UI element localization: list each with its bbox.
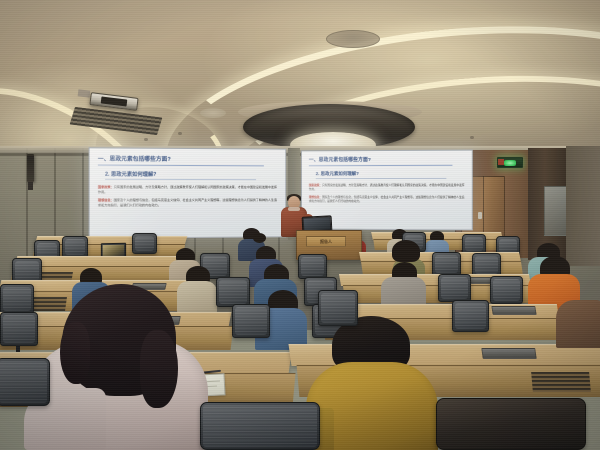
ceiling-vent-icon: [326, 30, 380, 48]
sprinkler-icon: [178, 132, 182, 135]
slide-paragraph-text: 只有国家的发展战略、方针及策略方针、通过政策教育使人们理解和认同国家的政策决策，…: [309, 184, 465, 191]
ceiling: [0, 0, 600, 165]
slide-paragraph-text: 国家及个人的理想与信念，包括马克思主义信仰、社会主义共同产主义理想等，这些理想信…: [98, 198, 277, 207]
projector-mount: [78, 89, 91, 97]
slide-paragraph-label: 理想信念：: [309, 196, 322, 199]
podium-monitor-screen: [304, 217, 331, 230]
sprinkler-icon: [470, 136, 474, 139]
desk-vent: [531, 372, 591, 392]
slide-paragraph: 理想信念：国家及个人的理想与信念，包括马克思主义信仰、社会主义共同产主义理想等，…: [98, 198, 278, 208]
slide-paragraph-label: 理想信念：: [98, 198, 114, 202]
laptop-screen: [103, 245, 124, 256]
slide-heading-rule: [98, 164, 264, 166]
slide-heading-rule: [309, 164, 452, 165]
slide-subheading: 2. 思政元素如何理解?: [105, 170, 277, 178]
slide-paragraph: 国家政策：只有国家的发展战略、方针及策略方针、通过政策教育使人们理解和认同国家的…: [98, 185, 278, 195]
slide-paragraph-text: 只有国家的发展战略、方针及策略方针、通过政策教育使人们理解和认同国家的政策决策，…: [98, 185, 277, 194]
door-handle[interactable]: [478, 212, 482, 219]
desk-monitor-inset: [481, 348, 537, 359]
podium-name-plate: 报告人: [306, 236, 346, 247]
exit-sign-indicator: [498, 159, 504, 165]
presenter-collar: [288, 207, 300, 211]
slide-paragraph: 理想信念：国家及个人的理想与信念，包括马克思主义信仰、社会主义共同产主义理想等，…: [309, 196, 465, 205]
sprinkler-icon: [144, 138, 148, 141]
slide-paragraph: 国家政策：只有国家的发展战略、方针及策略方针、通过政策教育使人们理解和认同国家的…: [309, 184, 465, 192]
podium-plate-text: 报告人: [320, 239, 332, 245]
slide-heading: 一、思政元素包括哪些方面?: [98, 154, 278, 163]
left-projection-screen: 一、思政元素包括哪些方面? 2. 思政元素如何理解? 国家政策：只有国家的发展战…: [89, 147, 287, 239]
slide-subheading: 2. 思政元素如何理解?: [316, 170, 465, 176]
slide-subheading-rule: [316, 178, 447, 179]
slide-paragraph-label: 国家政策：: [309, 184, 322, 187]
far-right-wall: [566, 146, 600, 266]
slide-subheading-rule: [105, 179, 256, 180]
running-man-icon: [504, 160, 516, 166]
wall-speaker-icon: [27, 154, 34, 182]
slide-content-left: 一、思政元素包括哪些方面? 2. 思政元素如何理解? 国家政策：只有国家的发展战…: [90, 148, 286, 237]
lecture-hall-photo: 一、思政元素包括哪些方面? 2. 思政元素如何理解? 国家政策：只有国家的发展战…: [0, 0, 600, 450]
wall-speaker-bracket: [28, 182, 33, 190]
slide-paragraph-text: 国家及个人的理想与信念，包括马克思主义信仰、社会主义共同产主义理想等，这些理想信…: [309, 196, 465, 203]
desk-monitor-inset: [491, 306, 536, 315]
slide-heading: 一、思政元素包括哪些方面?: [309, 156, 465, 164]
ceiling-sensor-icon: [200, 108, 226, 118]
slide-paragraph-label: 国家政策：: [98, 185, 114, 189]
